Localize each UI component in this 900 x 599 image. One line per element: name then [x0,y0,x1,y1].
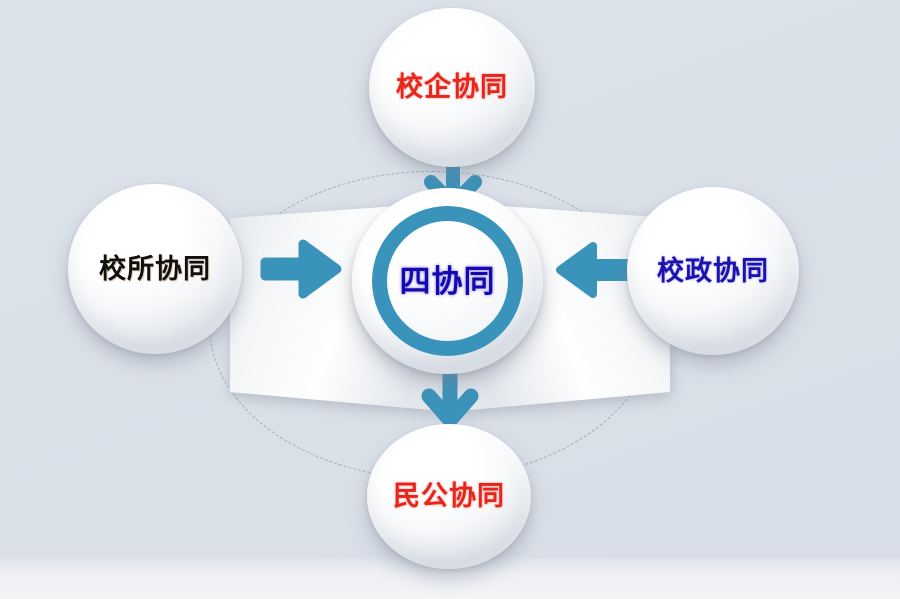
hub-ring: 四协同 [372,206,523,356]
node-label-bottom: 民公协同 [393,483,505,510]
node-bubble-left[interactable]: 校所协同 [68,184,242,354]
hub-label: 四协同 [400,266,496,297]
diagram-canvas: 校企协同 校所协同 校政协同 民公协同 四协同 [0,0,900,599]
node-label-left: 校所协同 [99,256,211,283]
node-bubble-top[interactable]: 校企协同 [369,8,535,167]
node-label-right: 校政协同 [657,258,769,285]
node-bubble-bottom[interactable]: 民公协同 [367,424,531,569]
arrow-left-icon [557,243,633,297]
node-bubble-right[interactable]: 校政协同 [627,187,799,355]
hub-bubble-center[interactable]: 四协同 [352,188,543,374]
arrow-right-icon [263,240,339,298]
node-label-top: 校企协同 [396,74,508,101]
